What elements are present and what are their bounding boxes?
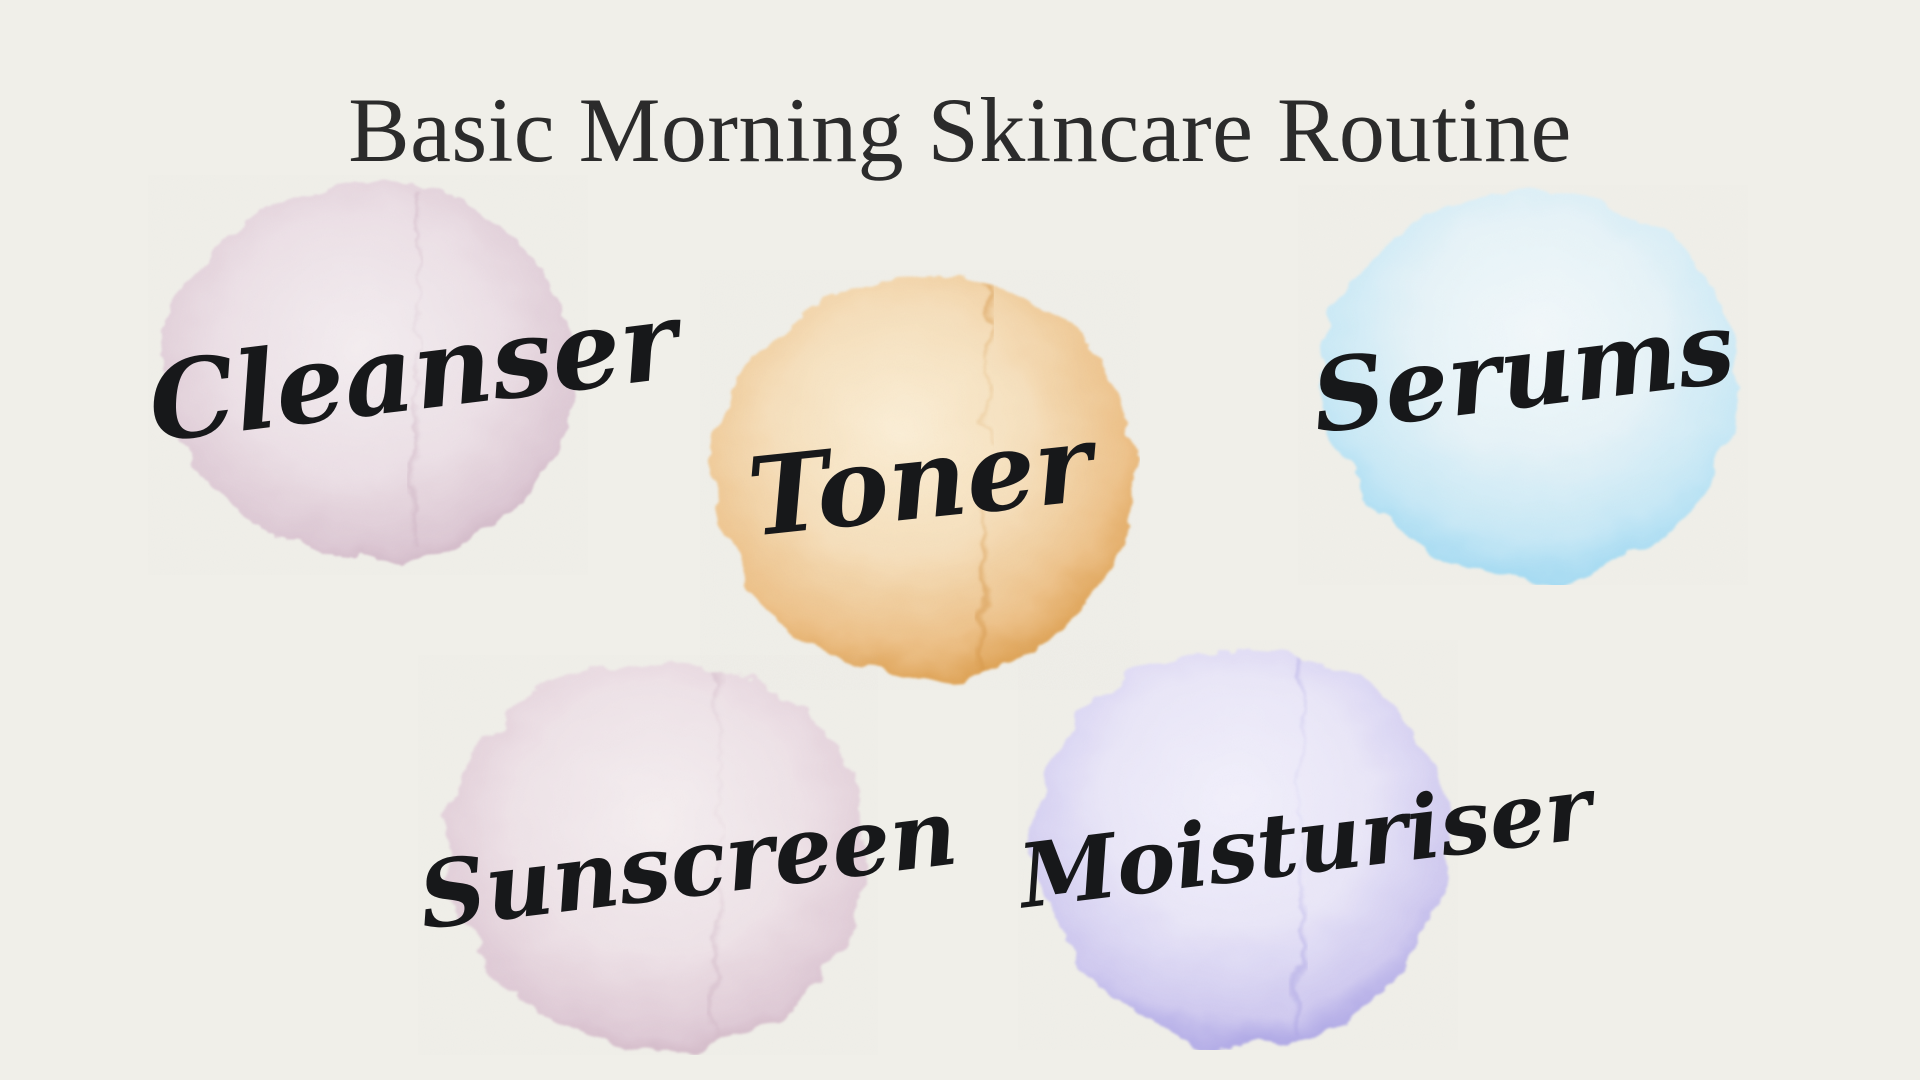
step-card-cleanser[interactable]: Cleanser: [148, 175, 588, 575]
moisturiser-watercolor-blob: [1018, 640, 1458, 1050]
serums-watercolor-blob: [1298, 185, 1748, 585]
step-card-moisturiser[interactable]: Moisturiser: [1018, 640, 1458, 1050]
slide-canvas: Basic Morning Skincare Routine Cleanser …: [0, 0, 1920, 1080]
toner-watercolor-blob: [700, 270, 1140, 690]
page-title: Basic Morning Skincare Routine: [0, 80, 1920, 181]
step-card-sunscreen[interactable]: Sunscreen: [418, 655, 878, 1055]
step-card-toner[interactable]: Toner: [700, 270, 1140, 690]
cleanser-watercolor-blob: [148, 175, 588, 575]
step-card-serums[interactable]: Serums: [1298, 185, 1748, 585]
sunscreen-watercolor-blob: [418, 655, 878, 1055]
